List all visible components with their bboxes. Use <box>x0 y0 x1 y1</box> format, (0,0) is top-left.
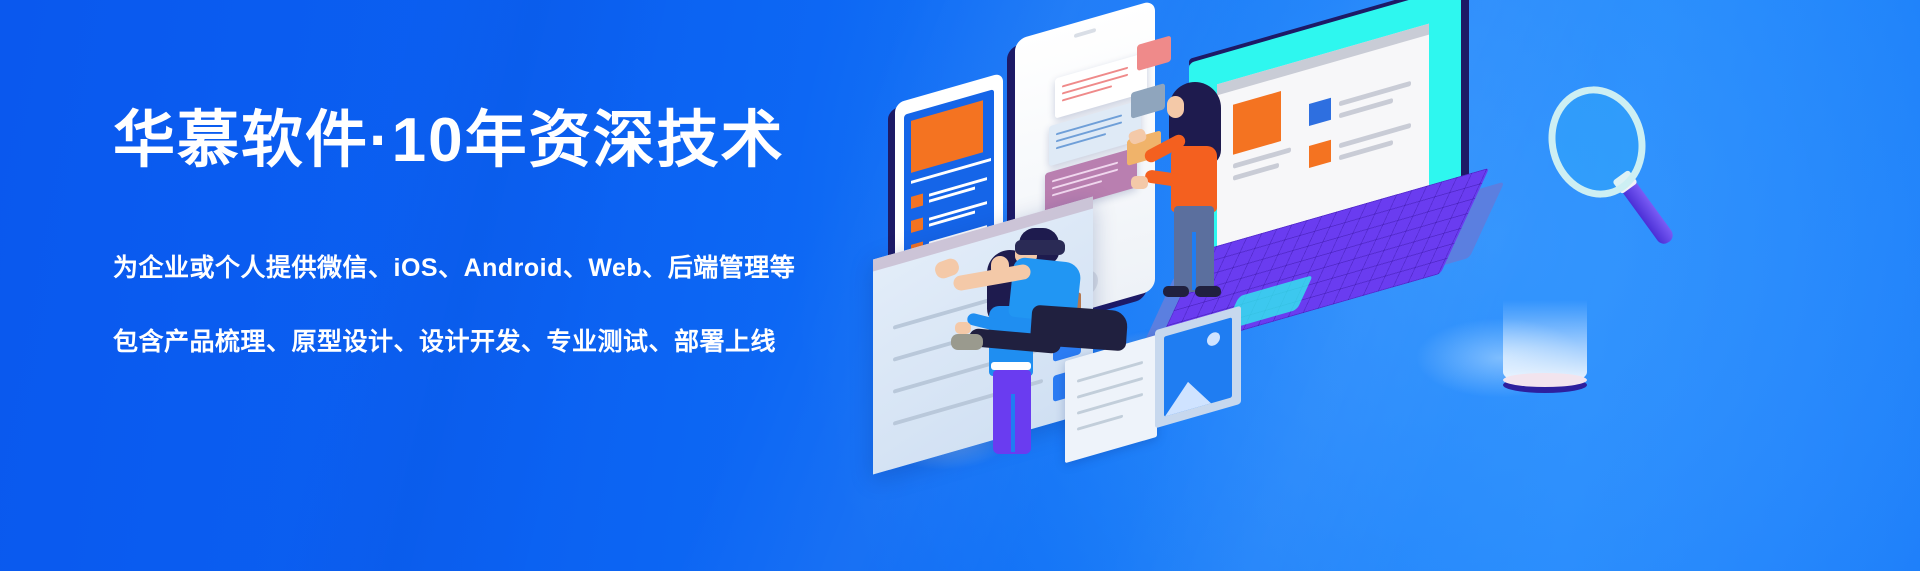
magnifier-icon <box>1539 86 1667 246</box>
row-icon <box>911 217 923 232</box>
sock <box>951 334 983 350</box>
phone-hero-block <box>911 100 983 173</box>
pedestal-face <box>1503 373 1587 387</box>
face <box>1167 96 1184 118</box>
tablet-camera <box>1074 28 1096 38</box>
hero-banner: 华慕软件·10年资深技术 为企业或个人提供微信、iOS、Android、Web、… <box>0 0 1920 571</box>
page-title: 华慕软件·10年资深技术 <box>113 105 873 176</box>
leg-gap <box>1192 232 1196 290</box>
sun-icon <box>1207 331 1220 348</box>
hero-illustration <box>855 0 1920 571</box>
document-line <box>1077 415 1123 431</box>
page-square-orange <box>1309 140 1331 168</box>
lower-hand <box>1131 176 1148 189</box>
row-icon <box>911 193 923 208</box>
shoe-right <box>1195 286 1221 297</box>
person-with-vr-headset <box>975 228 1185 408</box>
subtitle-line-2: 包含产品梳理、原型设计、设计开发、专业测试、部署上线 <box>113 322 873 358</box>
banner-copy: 华慕软件·10年资深技术 为企业或个人提供微信、iOS、Android、Web、… <box>113 105 873 358</box>
vr-headset-icon <box>1015 240 1065 255</box>
page-square-blue <box>1309 98 1331 126</box>
subtitle-line-1: 为企业或个人提供微信、iOS、Android、Web、后端管理等 <box>113 248 873 284</box>
hand <box>955 322 971 334</box>
